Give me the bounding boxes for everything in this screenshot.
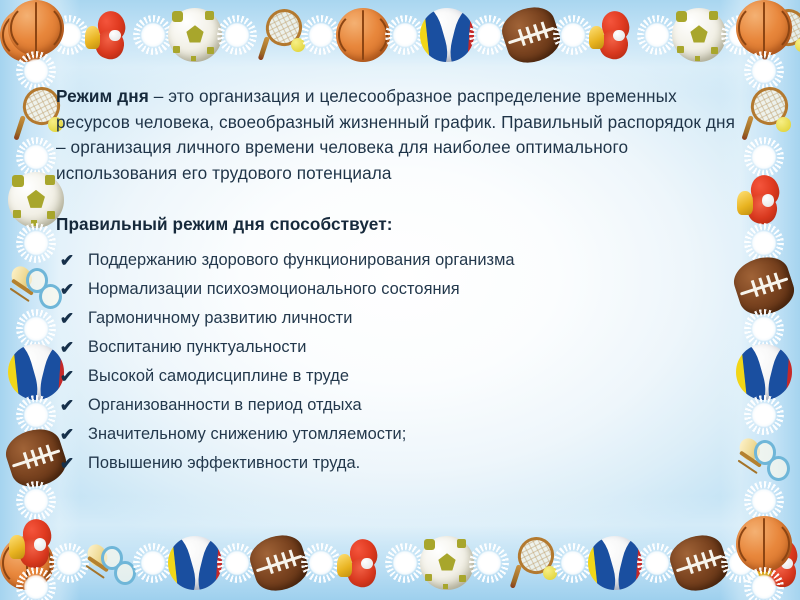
list-item: ✔ Воспитанию пунктуальности [56,333,736,362]
burst-decor [21,228,51,258]
list-item-label: Гармоничному развитию личности [88,309,352,327]
basketball-icon [336,8,390,62]
basketball-icon [8,0,64,56]
burst-decor [749,572,779,600]
burst-decor [558,20,588,50]
benefits-heading: Правильный режим дня способствует: [56,212,736,236]
list-item: ✔ Высокой самодисциплине в труде [56,362,736,391]
burst-decor [21,56,51,86]
list-item: ✔ Повышению эффективности труда. [56,449,736,478]
soccer-ball-icon [672,8,726,62]
burst-decor [222,20,252,50]
slide-content: Режим дня – это организация и целесообра… [56,84,736,478]
checkmark-icon: ✔ [58,333,76,362]
burst-decor [21,314,51,344]
burst-decor [749,142,779,172]
pingpong-paddles-icon [588,8,642,62]
checkmark-icon: ✔ [58,304,76,333]
burst-decor [390,548,420,578]
burst-decor [642,548,672,578]
volleyball-icon [168,536,222,590]
benefits-list: ✔ Поддержанию здорового функционирования… [56,246,736,478]
pingpong-paddles-icon [756,536,800,590]
checkmark-icon: ✔ [58,391,76,420]
burst-decor [474,548,504,578]
soccer-ball-icon [420,536,474,590]
burst-decor [749,56,779,86]
pingpong-paddles-icon [8,516,64,572]
list-item-label: Значительному снижению утомляемости; [88,425,406,443]
checkmark-icon: ✔ [58,420,76,449]
burst-decor [726,548,756,578]
soccer-ball-icon [168,8,222,62]
decor-border-right [728,0,800,600]
burst-decor [138,20,168,50]
intro-lead-term: Режим дня [56,86,149,106]
pingpong-paddles-icon [736,172,792,228]
burst-decor [390,20,420,50]
intro-paragraph: Режим дня – это организация и целесообра… [56,84,736,186]
burst-decor [222,548,252,578]
list-item: ✔ Поддержанию здорового функционирования… [56,246,736,275]
american-football-icon [504,8,558,62]
pingpong-paddles-icon [336,536,390,590]
list-item: ✔ Организованности в период отдыха [56,391,736,420]
basketball-icon [0,8,54,62]
tennis-racket-icon [252,8,306,62]
checkmark-icon: ✔ [58,246,76,275]
burst-decor [54,20,84,50]
burst-decor [21,572,51,600]
burst-decor [21,486,51,516]
burst-decor [642,20,672,50]
checkmark-icon: ✔ [58,275,76,304]
burst-decor [474,20,504,50]
burst-decor [558,548,588,578]
burst-decor [749,400,779,430]
burst-decor [749,228,779,258]
burst-decor [21,142,51,172]
list-item: ✔ Гармоничному развитию личности [56,304,736,333]
basketball-icon [0,536,54,590]
pingpong-paddles-icon [84,8,138,62]
american-football-icon [252,536,306,590]
list-item-label: Воспитанию пунктуальности [88,338,306,356]
intro-body-text: – это организация и целесообразное распр… [56,86,735,183]
burst-decor [726,20,756,50]
burst-decor [749,314,779,344]
list-item-label: Повышению эффективности труда. [88,454,360,472]
tennis-racket-icon [756,8,800,62]
edge-gradient-top [0,0,800,96]
burst-decor [138,548,168,578]
basketball-icon [736,0,792,56]
burst-decor [54,548,84,578]
edge-gradient-bottom [0,496,800,600]
list-item: ✔ Нормализации психоэмоционального состо… [56,275,736,304]
list-item: ✔ Значительному снижению утомляемости; [56,420,736,449]
american-football-icon [736,258,792,314]
burst-decor [21,400,51,430]
checkmark-icon: ✔ [58,449,76,478]
list-item-label: Поддержанию здорового функционирования о… [88,251,515,269]
checkmark-icon: ✔ [58,362,76,391]
volleyball-icon [420,8,474,62]
volleyball-icon [588,536,642,590]
list-item-label: Высокой самодисциплине в труде [88,367,349,385]
list-item-label: Нормализации психоэмоционального состоян… [88,280,460,298]
basketball-icon [736,516,792,572]
burst-decor [749,486,779,516]
decor-border-bottom [0,526,800,600]
tennis-racket-icon [504,536,558,590]
burst-decor [306,20,336,50]
badminton-shuttlecock-icon [84,536,138,590]
tennis-racket-icon [736,86,792,142]
volleyball-icon [736,344,792,400]
american-football-icon [672,536,726,590]
badminton-shuttlecock-icon [736,430,792,486]
burst-decor [306,548,336,578]
decor-border-top [0,0,800,70]
list-item-label: Организованности в период отдыха [88,396,362,414]
slide: Режим дня – это организация и целесообра… [0,0,800,600]
